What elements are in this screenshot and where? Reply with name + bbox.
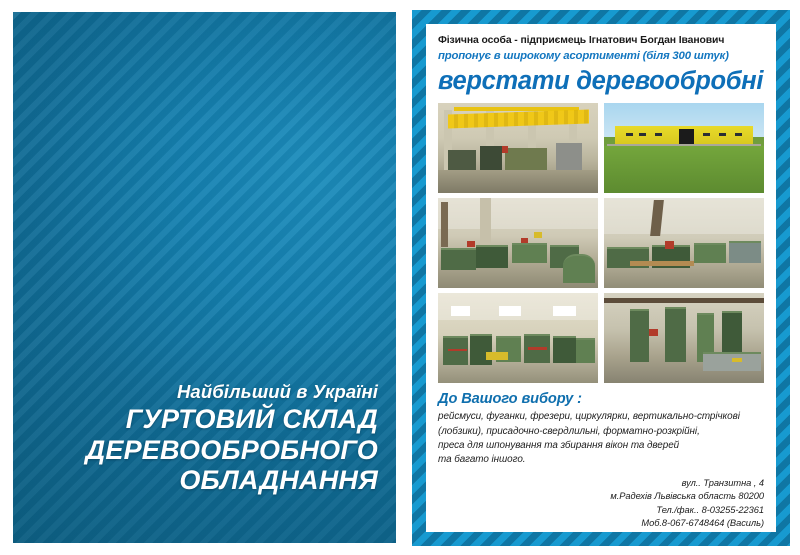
left-panel-back-cover: Найбільший в Україні ГУРТОВИЙ СКЛАД ДЕРЕ…: [13, 12, 396, 543]
left-headline-line-3: ОБЛАДНАННЯ: [37, 465, 378, 495]
right-panel-front-cover: Фізична особа - підприємець Ігнатович Бо…: [412, 10, 790, 546]
right-panel-content: Фізична особа - підприємець Ігнатович Бо…: [426, 24, 776, 532]
offer-line-3: преса для шпонування та збирання вікон т…: [438, 439, 764, 453]
left-headline-line-1: ГУРТОВИЙ СКЛАД: [37, 404, 378, 434]
offer-line-2: (лобзики), присадочно-свердлильні, форма…: [438, 425, 764, 439]
photo-woodworking-machines-row-right: [604, 198, 764, 288]
contact-street: вул.. Транзитна , 4: [438, 477, 764, 490]
page-title: верстати деревообробні: [438, 67, 764, 96]
photo-band-saws-and-machines-hall: [604, 293, 764, 383]
left-headline: ГУРТОВИЙ СКЛАД ДЕРЕВООБРОБНОГО ОБЛАДНАНН…: [37, 404, 378, 495]
contact-mobile: Моб.8-067-6748464 (Василь): [438, 517, 764, 530]
photo-grid: [438, 103, 764, 383]
left-kicker-text: Найбільший в Україні: [37, 381, 378, 402]
photo-yellow-warehouse-building-exterior: [604, 103, 764, 193]
offer-section: До Вашого вибору : рейсмуси, фуганки, фр…: [438, 391, 764, 467]
offer-body: рейсмуси, фуганки, фрезери, циркулярки, …: [438, 410, 764, 466]
contact-city: м.Радехів Львівська область 80200: [438, 490, 764, 503]
offer-line-1: рейсмуси, фуганки, фрезери, циркулярки, …: [438, 410, 764, 424]
left-headline-line-2: ДЕРЕВООБРОБНОГО: [37, 435, 378, 465]
photo-workshop-interior-with-yellow-crane: [438, 103, 598, 193]
contact-block: вул.. Транзитна , 4 м.Радехів Львівська …: [438, 477, 764, 531]
photo-woodworking-machines-showroom-wide: [438, 198, 598, 288]
brochure-page: Найбільший в Україні ГУРТОВИЙ СКЛАД ДЕРЕ…: [0, 0, 800, 555]
contact-phone: Тел./фак.. 8-03255-22361: [438, 504, 764, 517]
left-panel-text-block: Найбільший в Україні ГУРТОВИЙ СКЛАД ДЕРЕ…: [37, 381, 378, 495]
offer-title: До Вашого вибору :: [438, 391, 764, 409]
photo-green-planer-machines-row: [438, 293, 598, 383]
assortment-line: пропонує в широкому асортименті (біля 30…: [438, 49, 764, 64]
company-owner-line: Фізична особа - підприємець Ігнатович Бо…: [438, 34, 764, 48]
offer-line-4: та багато іншого.: [438, 453, 764, 467]
